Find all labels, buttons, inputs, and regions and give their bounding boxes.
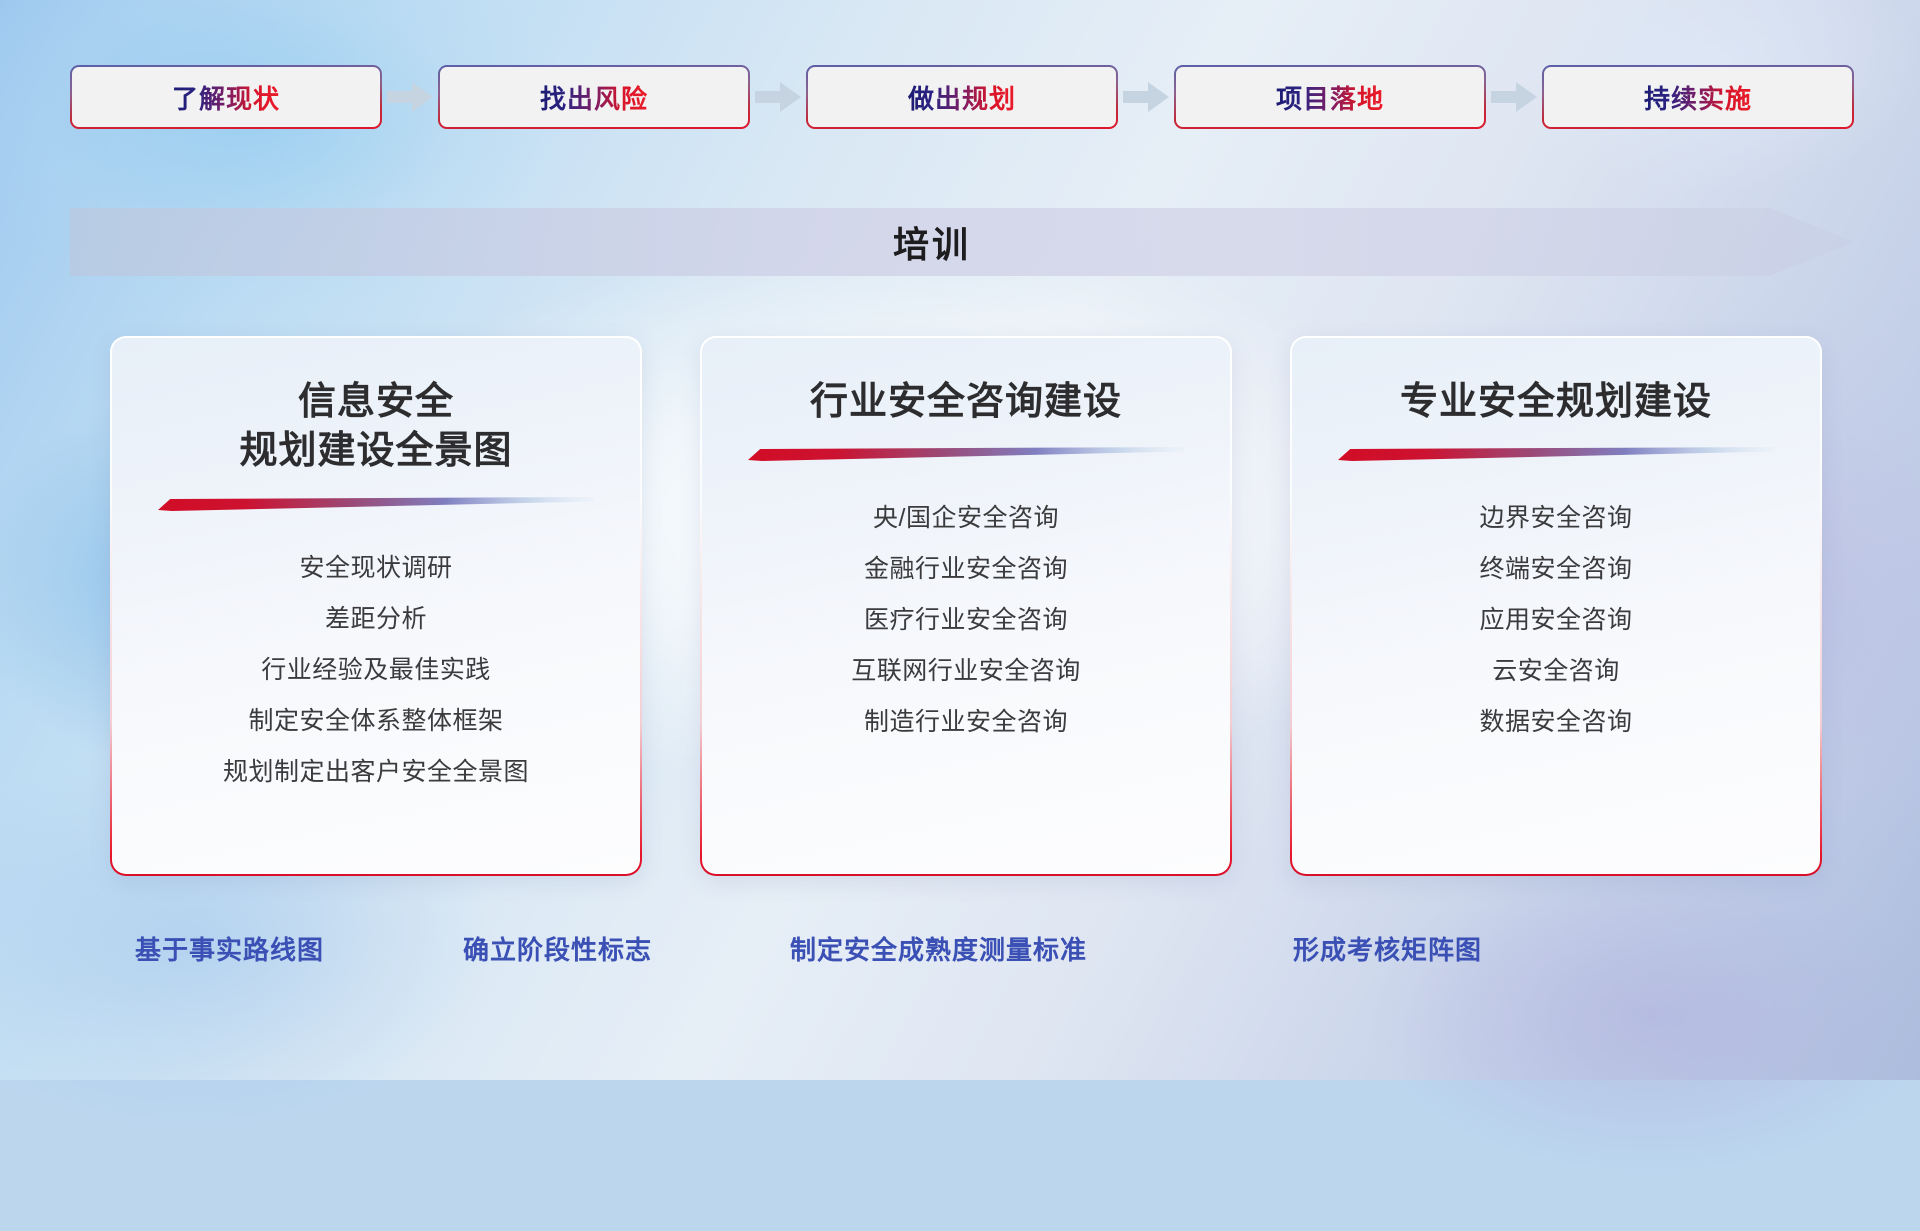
- training-banner-label: 培训: [893, 216, 971, 268]
- step-box-3-inner: 做出规划: [808, 67, 1116, 127]
- card-3-list-item: 云安全咨询: [1492, 646, 1620, 697]
- card-3-list: 边界安全咨询 终端安全咨询 应用安全咨询 云安全咨询 数据安全咨询: [1316, 493, 1796, 748]
- step-box-5[interactable]: 持续实施: [1542, 65, 1854, 129]
- step-box-1-inner: 了解现状: [72, 67, 380, 127]
- card-1-list-item: 规划制定出客户安全全景图: [223, 747, 529, 798]
- card-1-list-item: 安全现状调研: [299, 543, 452, 594]
- step-box-3[interactable]: 做出规划: [806, 65, 1118, 129]
- card-2-list-item: 金融行业安全咨询: [864, 544, 1068, 595]
- card-3-title: 专业安全规划建设: [1400, 378, 1712, 427]
- step-label-3: 做出规划: [908, 79, 1016, 116]
- step-label-4: 项目落地: [1276, 79, 1384, 116]
- card-3-inner: 专业安全规划建设: [1292, 338, 1820, 874]
- card-2-list: 央/国企安全咨询 金融行业安全咨询 医疗行业安全咨询 互联网行业安全咨询 制造行…: [726, 493, 1206, 748]
- card-2-list-item: 互联网行业安全咨询: [851, 646, 1081, 697]
- card-1-inner: 信息安全 规划建设全景图: [112, 338, 640, 874]
- caption-1: 基于事实路线图: [135, 930, 324, 967]
- right-block-arrow-icon-1: [382, 80, 438, 114]
- tapered-gradient-rule-icon: [1338, 447, 1774, 461]
- tapered-gradient-rule-icon: [748, 447, 1184, 461]
- card-1-list-item: 制定安全体系整体框架: [248, 696, 503, 747]
- card-3-list-item: 数据安全咨询: [1479, 697, 1632, 748]
- step-label-1: 了解现状: [172, 79, 280, 116]
- caption-4: 形成考核矩阵图: [1293, 930, 1482, 967]
- bottom-captions: 基于事实路线图 确立阶段性标志 制定安全成熟度测量标准 形成考核矩阵图: [0, 930, 1920, 980]
- card-1-list: 安全现状调研 差距分析 行业经验及最佳实践 制定安全体系整体框架 规划制定出客户…: [136, 543, 616, 798]
- step-label-5: 持续实施: [1644, 79, 1752, 116]
- card-3-list-item: 终端安全咨询: [1479, 544, 1632, 595]
- card-1-divider: [158, 497, 594, 511]
- card-1-list-item: 差距分析: [325, 594, 427, 645]
- card-1-list-item: 行业经验及最佳实践: [261, 645, 491, 696]
- training-banner: 培训: [70, 208, 1854, 276]
- card-1-title: 信息安全 规划建设全景图: [239, 378, 512, 477]
- card-3-list-item: 应用安全咨询: [1479, 595, 1632, 646]
- card-3-divider: [1338, 447, 1774, 461]
- card-2-list-item: 央/国企安全咨询: [873, 493, 1059, 544]
- caption-3: 制定安全成熟度测量标准: [790, 930, 1087, 967]
- tapered-gradient-rule-icon: [158, 497, 594, 511]
- card-2-list-item: 医疗行业安全咨询: [864, 595, 1068, 646]
- card-3-list-item: 边界安全咨询: [1479, 493, 1632, 544]
- card-1[interactable]: 信息安全 规划建设全景图: [110, 336, 642, 876]
- step-box-4[interactable]: 项目落地: [1174, 65, 1486, 129]
- caption-2: 确立阶段性标志: [463, 930, 652, 967]
- card-2-divider: [748, 447, 1184, 461]
- cards-row: 信息安全 规划建设全景图: [110, 336, 1822, 876]
- card-2-inner: 行业安全咨询建设: [702, 338, 1230, 874]
- step-box-2-inner: 找出风险: [440, 67, 748, 127]
- step-box-1[interactable]: 了解现状: [70, 65, 382, 129]
- card-2[interactable]: 行业安全咨询建设: [700, 336, 1232, 876]
- step-label-2: 找出风险: [540, 79, 648, 116]
- card-2-list-item: 制造行业安全咨询: [864, 697, 1068, 748]
- card-2-title: 行业安全咨询建设: [810, 378, 1122, 427]
- right-block-arrow-icon-2: [750, 80, 806, 114]
- step-box-5-inner: 持续实施: [1544, 67, 1852, 127]
- step-box-2[interactable]: 找出风险: [438, 65, 750, 129]
- card-3[interactable]: 专业安全规划建设: [1290, 336, 1822, 876]
- right-block-arrow-icon-4: [1486, 80, 1542, 114]
- process-steps-row: 了解现状 找出风险 做出规划 项目落地: [70, 64, 1854, 130]
- training-banner-label-wrap: 培训: [70, 208, 1854, 276]
- step-box-4-inner: 项目落地: [1176, 67, 1484, 127]
- right-block-arrow-icon-3: [1118, 80, 1174, 114]
